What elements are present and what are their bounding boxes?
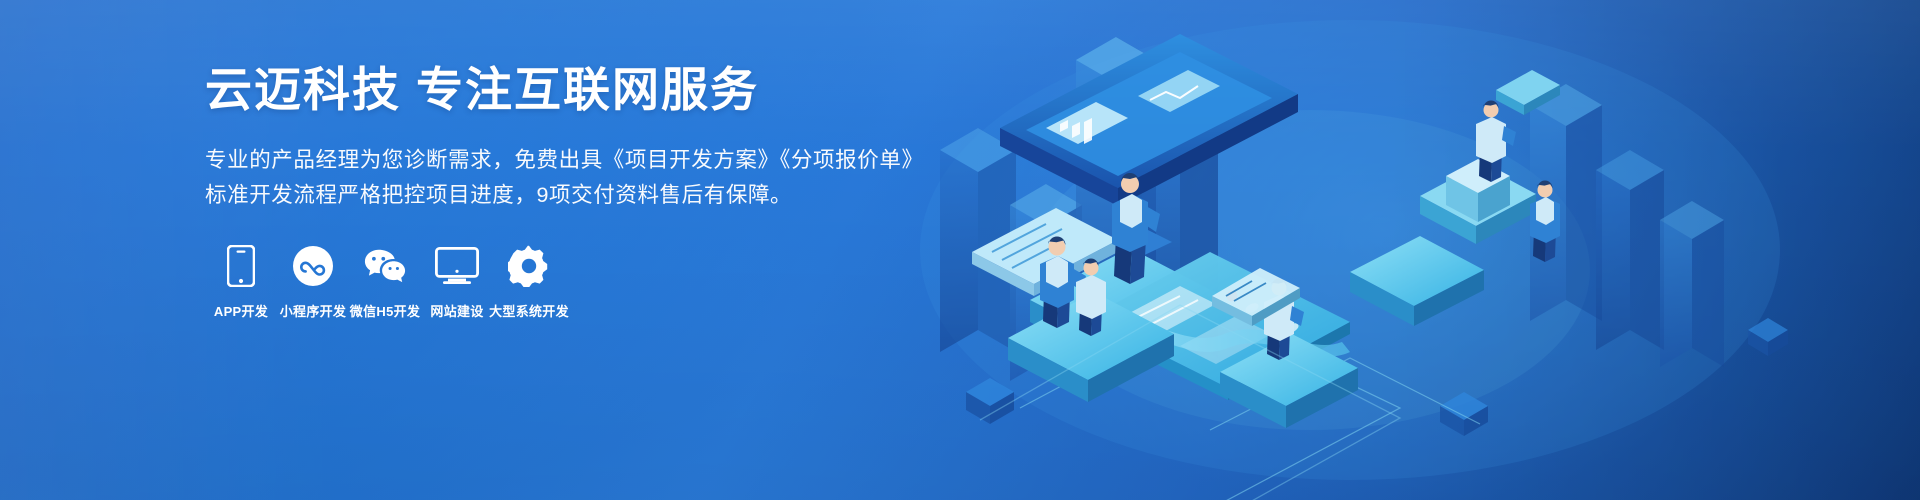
service-item-system[interactable]: 大型系统开发 (493, 243, 565, 320)
service-item-miniprogram[interactable]: 小程序开发 (277, 243, 349, 320)
monitor-icon (435, 243, 479, 289)
subtitle-line-2: 标准开发流程严格把控项目进度，9项交付资料售后有保障。 (205, 178, 924, 213)
service-item-app[interactable]: APP开发 (205, 243, 277, 320)
subtitle-line-1: 专业的产品经理为您诊断需求，免费出具《项目开发方案》《分项报价单》 (205, 143, 924, 178)
service-icon-row: APP开发 小程序开发 (205, 243, 924, 320)
service-label-miniprogram: 小程序开发 (280, 301, 347, 320)
wechat-bubbles-icon (363, 243, 407, 289)
service-label-app: APP开发 (214, 301, 268, 320)
banner-content: 云迈科技 专注互联网服务 专业的产品经理为您诊断需求，免费出具《项目开发方案》《… (205, 62, 924, 320)
hero-illustration (880, 0, 1920, 500)
mobile-phone-icon (219, 243, 263, 289)
service-label-system: 大型系统开发 (489, 301, 569, 320)
gear-icon (507, 243, 551, 289)
page-title: 云迈科技 专注互联网服务 (205, 62, 924, 117)
service-label-wechat: 微信H5开发 (350, 301, 420, 320)
service-item-wechat[interactable]: 微信H5开发 (349, 243, 421, 320)
banner-subtitle: 专业的产品经理为您诊断需求，免费出具《项目开发方案》《分项报价单》 标准开发流程… (205, 143, 924, 213)
mini-program-icon (291, 243, 335, 289)
hero-banner: 云迈科技 专注互联网服务 专业的产品经理为您诊断需求，免费出具《项目开发方案》《… (0, 0, 1920, 500)
service-item-website[interactable]: 网站建设 (421, 243, 493, 320)
service-label-website: 网站建设 (430, 301, 483, 320)
